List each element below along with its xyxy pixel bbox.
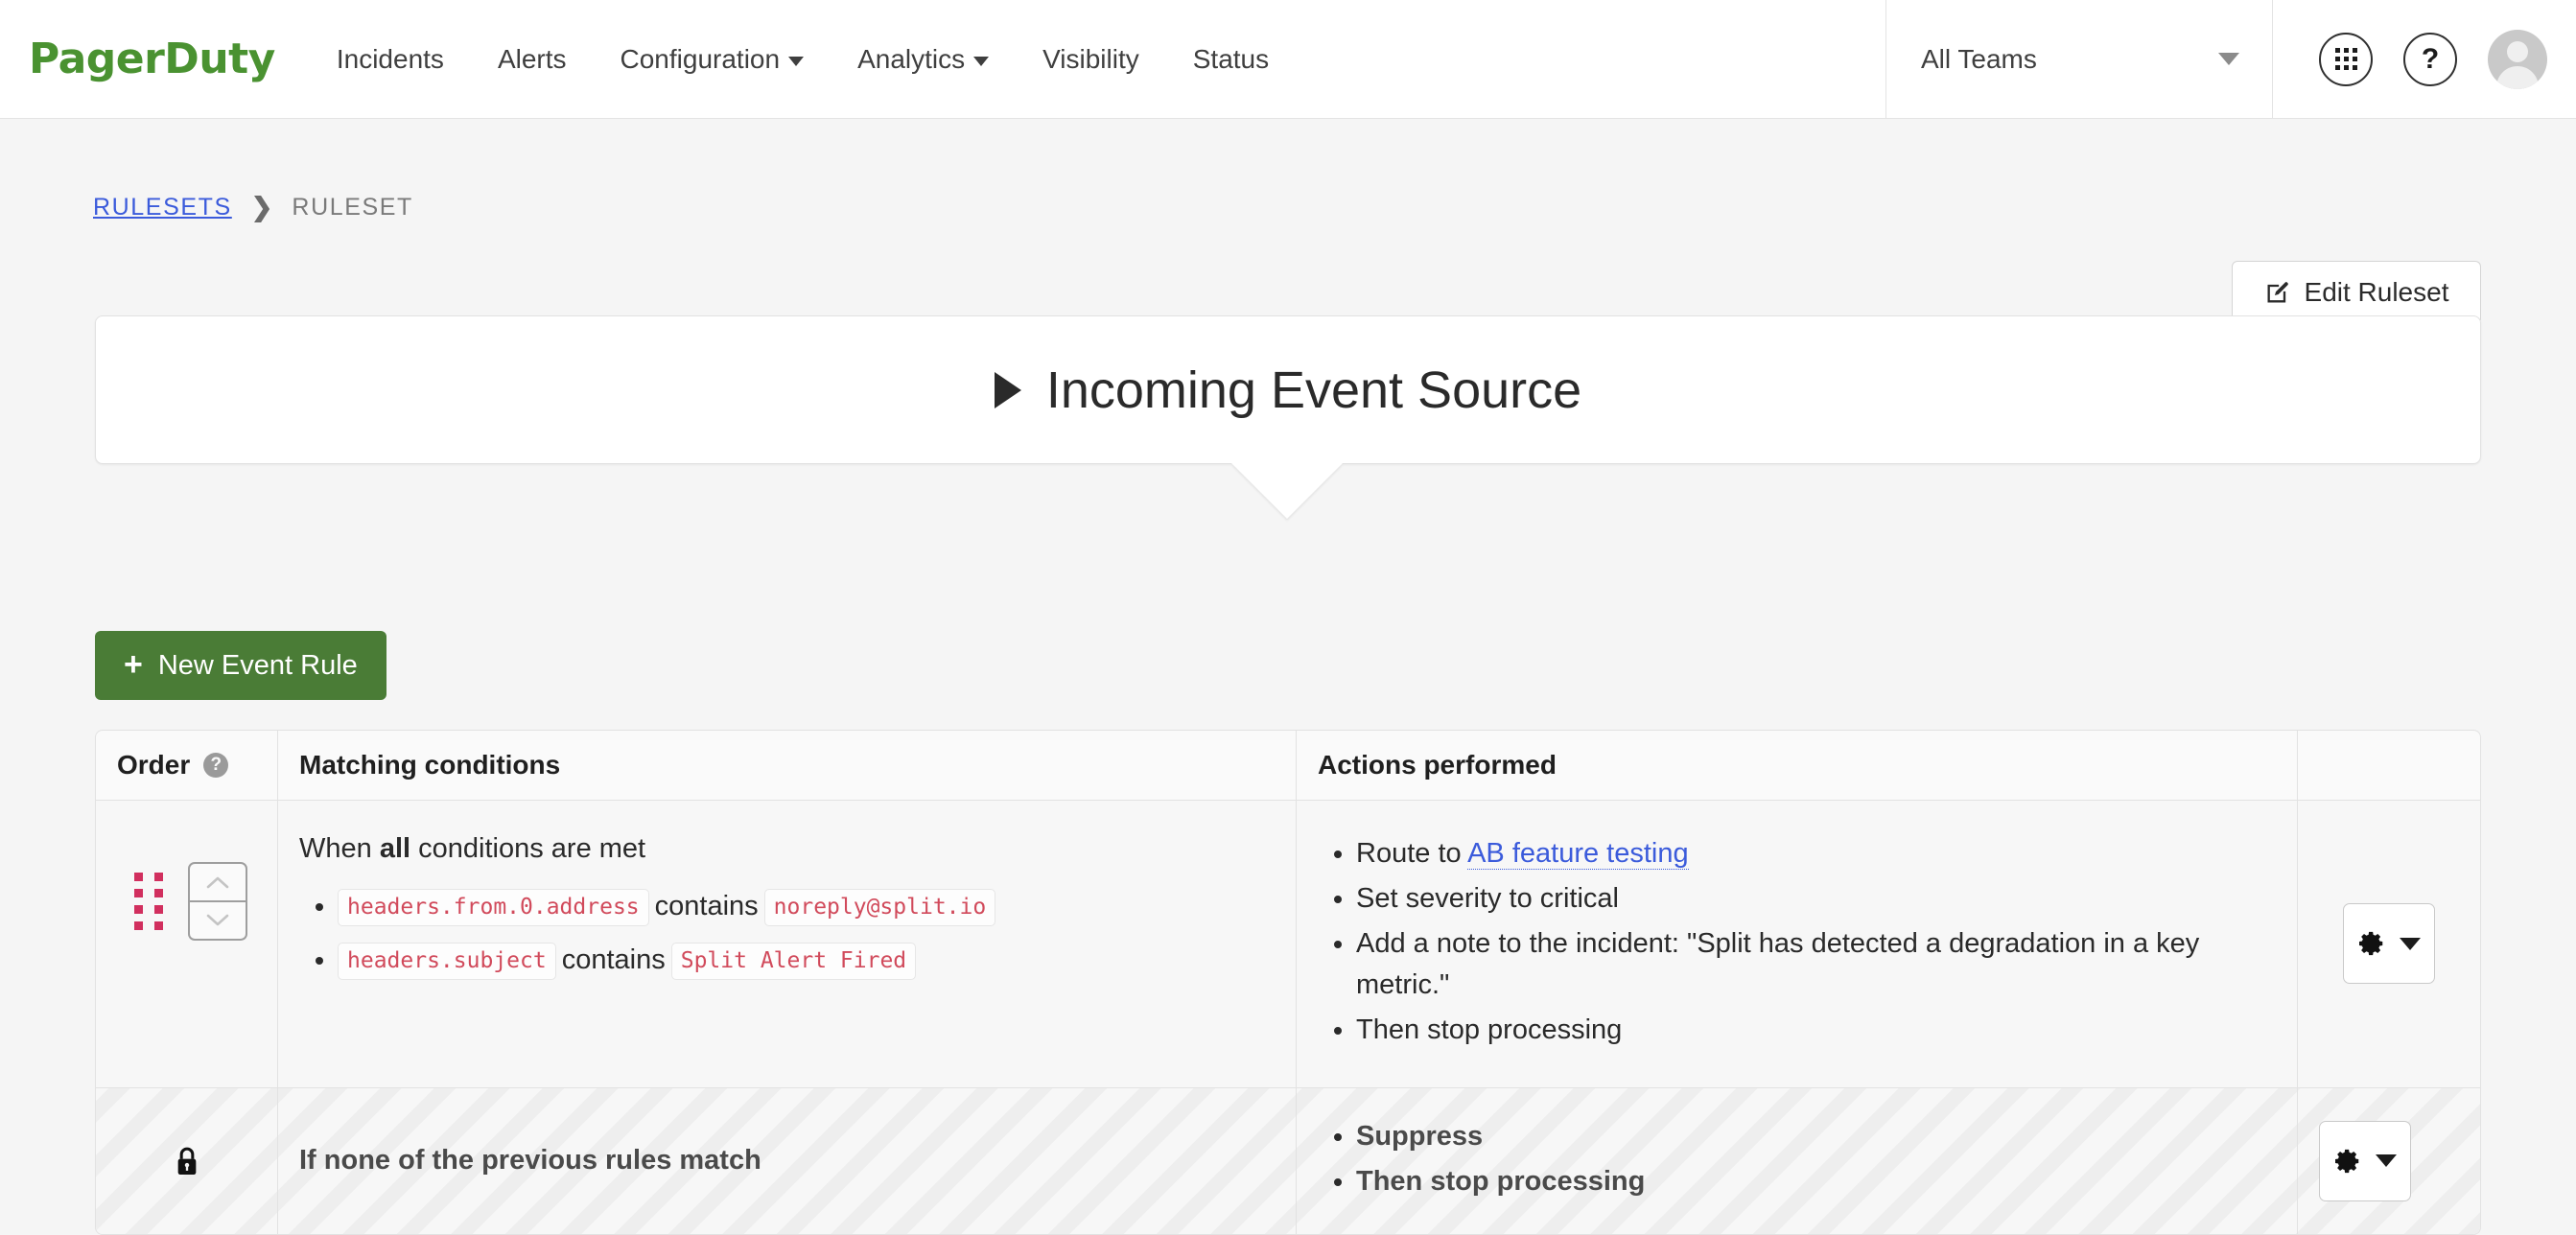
condition-value-chip: Split Alert Fired xyxy=(671,943,916,979)
default-rule-label-cell: If none of the previous rules match xyxy=(278,1088,1297,1234)
rule-conditions-cell: When all conditions are met headers.from… xyxy=(278,801,1297,1087)
conditions-intro-bold: all xyxy=(380,833,410,864)
action-item: Then stop processing xyxy=(1356,1161,1645,1202)
panel-notch-arrow xyxy=(1231,463,1343,519)
action-route-target-link[interactable]: AB feature testing xyxy=(1467,838,1689,870)
breadcrumb-rulesets-link[interactable]: RULESETS xyxy=(93,194,232,221)
nav-item-visibility-label: Visibility xyxy=(1042,44,1139,75)
nav-spacer xyxy=(1296,0,1885,118)
action-item: Suppress xyxy=(1356,1116,1645,1157)
gear-icon xyxy=(2357,929,2386,958)
page-content: RULESETS ❯ RULESET Edit Ruleset Incoming… xyxy=(0,119,2576,1107)
condition-field-chip: headers.subject xyxy=(338,943,556,979)
question-glyph: ? xyxy=(2422,45,2439,74)
conditions-intro: When all conditions are met xyxy=(299,833,1275,865)
actions-list: Route to AB feature testing Set severity… xyxy=(1318,833,2276,1051)
condition-item: headers.from.0.addresscontainsnoreply@sp… xyxy=(338,886,1275,926)
rule-order-cell xyxy=(96,801,278,1087)
nav-item-incidents-label: Incidents xyxy=(337,44,444,75)
column-header-menu xyxy=(2298,731,2480,800)
event-rules-table: Order ? Matching conditions Actions perf… xyxy=(95,730,2481,1235)
avatar-body xyxy=(2496,66,2539,89)
action-item: Add a note to the incident: "Split has d… xyxy=(1356,923,2276,1006)
action-stop-processing-text: Then stop processing xyxy=(1356,1014,1622,1045)
nav-item-alerts-label: Alerts xyxy=(498,44,567,75)
edit-ruleset-label: Edit Ruleset xyxy=(2305,277,2449,308)
conditions-list: headers.from.0.addresscontainsnoreply@sp… xyxy=(299,886,1275,980)
default-rule-actions-cell: Suppress Then stop processing xyxy=(1297,1088,2298,1234)
new-event-rule-button[interactable]: + New Event Rule xyxy=(95,631,386,700)
table-row: If none of the previous rules match Supp… xyxy=(96,1088,2480,1234)
action-severity-text: Set severity to critical xyxy=(1356,883,1619,914)
column-header-order-label: Order xyxy=(117,750,190,781)
chevron-down-icon xyxy=(973,57,989,66)
help-question-icon[interactable]: ? xyxy=(2403,33,2457,86)
nav-item-configuration-label: Configuration xyxy=(621,44,781,75)
caret-down-icon xyxy=(2400,938,2421,950)
incoming-event-source-panel[interactable]: Incoming Event Source xyxy=(95,315,2481,464)
condition-field-chip: headers.from.0.address xyxy=(338,889,649,925)
order-help-icon[interactable]: ? xyxy=(203,753,228,778)
primary-nav-links: Incidents Alerts Configuration Analytics… xyxy=(310,0,1296,118)
column-header-order: Order ? xyxy=(96,731,278,800)
nav-item-analytics-label: Analytics xyxy=(857,44,965,75)
conditions-intro-prefix: When xyxy=(299,833,380,864)
plus-icon: + xyxy=(124,648,143,681)
nav-item-visibility[interactable]: Visibility xyxy=(1016,44,1166,75)
action-item: Route to AB feature testing xyxy=(1356,833,2276,874)
action-item: Then stop processing xyxy=(1356,1010,2276,1051)
incoming-event-source-title: Incoming Event Source xyxy=(1046,361,1581,420)
new-event-rule-label: New Event Rule xyxy=(158,650,358,682)
avatar-head xyxy=(2507,41,2528,62)
order-controls xyxy=(117,833,256,941)
rule-actions-cell: Route to AB feature testing Set severity… xyxy=(1297,801,2298,1087)
chevron-down-icon xyxy=(206,914,229,927)
breadcrumb: RULESETS ❯ RULESET xyxy=(93,193,413,222)
condition-item: headers.subjectcontainsSplit Alert Fired xyxy=(338,940,1275,980)
move-up-button[interactable] xyxy=(190,864,246,902)
nav-item-incidents[interactable]: Incidents xyxy=(310,44,471,75)
table-row: When all conditions are met headers.from… xyxy=(96,801,2480,1088)
conditions-intro-suffix: conditions are met xyxy=(410,833,645,864)
table-header-row: Order ? Matching conditions Actions perf… xyxy=(96,731,2480,801)
drag-handle-icon[interactable] xyxy=(134,873,163,930)
lock-icon xyxy=(174,1145,200,1177)
action-item: Set severity to critical xyxy=(1356,878,2276,920)
caret-down-icon xyxy=(2376,1154,2397,1167)
default-actions-list: Suppress Then stop processing xyxy=(1318,1116,1645,1206)
rule-settings-menu-button[interactable] xyxy=(2343,903,2435,984)
action-route-prefix: Route to xyxy=(1356,838,1467,869)
chevron-up-icon xyxy=(206,875,229,889)
column-header-actions-label: Actions performed xyxy=(1318,750,1557,781)
condition-operator: contains xyxy=(556,944,671,975)
order-spinner xyxy=(188,862,247,941)
incoming-event-source-inner: Incoming Event Source xyxy=(995,361,1581,420)
user-avatar[interactable] xyxy=(2488,30,2547,89)
default-action-stop-processing: Then stop processing xyxy=(1356,1166,1645,1197)
default-rule-settings-menu-button[interactable] xyxy=(2319,1121,2411,1201)
column-header-conditions: Matching conditions xyxy=(278,731,1297,800)
condition-operator: contains xyxy=(649,891,764,921)
action-note-text: Add a note to the incident: "Split has d… xyxy=(1356,928,2199,1000)
triangle-right-icon[interactable] xyxy=(995,372,1021,408)
chevron-right-icon: ❯ xyxy=(251,193,273,222)
condition-value-chip: noreply@split.io xyxy=(764,889,996,925)
column-header-actions: Actions performed xyxy=(1297,731,2298,800)
default-action-suppress: Suppress xyxy=(1356,1121,1483,1152)
lock-wrap xyxy=(117,1145,256,1177)
edit-pencil-icon xyxy=(2264,279,2291,306)
default-menu-wrap xyxy=(2319,1088,2411,1234)
nav-item-status[interactable]: Status xyxy=(1166,44,1296,75)
apps-grid-icon[interactable] xyxy=(2319,33,2373,86)
move-down-button[interactable] xyxy=(190,902,246,939)
team-selector[interactable]: All Teams xyxy=(1885,0,2273,118)
rule-menu-cell xyxy=(2298,801,2480,1087)
nav-icon-group: ? xyxy=(2273,0,2576,118)
nav-item-configuration[interactable]: Configuration xyxy=(594,44,831,75)
default-rule-label: If none of the previous rules match xyxy=(299,1145,761,1177)
column-header-conditions-label: Matching conditions xyxy=(299,750,560,781)
brand-text: PagerDuty xyxy=(29,35,275,83)
pagerduty-logo[interactable]: PagerDuty xyxy=(0,0,310,118)
top-navigation-bar: PagerDuty Incidents Alerts Configuration… xyxy=(0,0,2576,119)
gear-icon xyxy=(2333,1147,2362,1176)
nav-item-alerts[interactable]: Alerts xyxy=(471,44,594,75)
nav-item-analytics[interactable]: Analytics xyxy=(831,44,1016,75)
breadcrumb-current: RULESET xyxy=(292,194,413,221)
default-rule-menu-cell xyxy=(2298,1088,2480,1234)
default-rule-order-cell xyxy=(96,1088,278,1234)
nav-item-status-label: Status xyxy=(1193,44,1269,75)
chevron-down-icon xyxy=(788,57,804,66)
team-selector-value: All Teams xyxy=(1921,44,2037,75)
rule-menu-wrap xyxy=(2319,833,2459,1055)
grid-dots xyxy=(2335,48,2357,70)
chevron-down-icon xyxy=(2218,53,2239,65)
